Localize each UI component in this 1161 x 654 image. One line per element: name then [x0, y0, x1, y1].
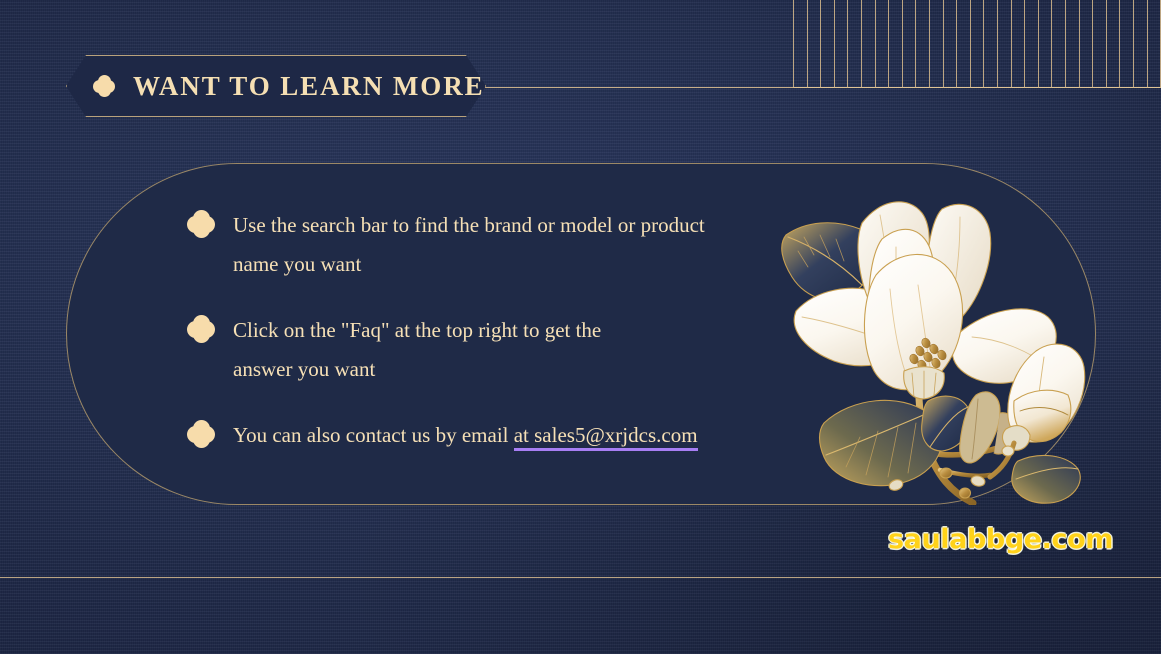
- grid-vertical-line: [1038, 0, 1039, 88]
- section-title-badge: WANT TO LEARN MORE: [66, 55, 486, 117]
- list-item: You can also contact us by email at sale…: [187, 416, 797, 455]
- grid-vertical-line: [1011, 0, 1012, 88]
- grid-vertical-line: [983, 0, 984, 88]
- grid-vertical-line: [943, 0, 944, 88]
- bottom-horizontal-rule: [0, 577, 1161, 578]
- bullet-text-3: You can also contact us by email at sale…: [233, 416, 698, 455]
- bullet-text-2-line1: Click on the "Faq" at the top right to g…: [233, 318, 601, 342]
- grid-vertical-line: [929, 0, 930, 88]
- quatrefoil-icon: [187, 210, 215, 238]
- grid-vertical-line: [902, 0, 903, 88]
- watermark-text: saulabbge.com: [888, 524, 1113, 555]
- grid-vertical-line: [1147, 0, 1148, 88]
- grid-vertical-line: [888, 0, 889, 88]
- page-title: WANT TO LEARN MORE: [133, 71, 485, 102]
- slide-canvas: WANT TO LEARN MORE Use the search bar to…: [0, 0, 1161, 654]
- grid-vertical-line: [1133, 0, 1134, 88]
- grid-vertical-line: [1119, 0, 1120, 88]
- list-item: Click on the "Faq" at the top right to g…: [187, 311, 797, 389]
- grid-vertical-line: [1106, 0, 1107, 88]
- bullet-text-3-prefix: You can also contact us by email: [233, 423, 514, 447]
- grid-vertical-line: [997, 0, 998, 88]
- quatrefoil-icon: [187, 420, 215, 448]
- grid-vertical-line: [861, 0, 862, 88]
- grid-vertical-line: [1079, 0, 1080, 88]
- bullet-list: Use the search bar to find the brand or …: [187, 206, 797, 455]
- grid-vertical-line: [807, 0, 808, 88]
- grid-vertical-line: [1065, 0, 1066, 88]
- grid-vertical-line: [1024, 0, 1025, 88]
- grid-vertical-line: [847, 0, 848, 88]
- bullet-text-1: Use the search bar to find the brand or …: [233, 206, 733, 284]
- grid-vertical-line: [970, 0, 971, 88]
- bullet-text-2-line2: answer you want: [233, 357, 375, 381]
- vertical-line-grid-decoration: [793, 0, 1161, 88]
- content-card: Use the search bar to find the brand or …: [66, 163, 1096, 505]
- email-link[interactable]: at sales5@xrjdcs.com: [514, 423, 698, 451]
- grid-vertical-line: [793, 0, 794, 88]
- quatrefoil-icon: [93, 75, 115, 97]
- grid-vertical-line: [820, 0, 821, 88]
- grid-vertical-line: [956, 0, 957, 88]
- list-item: Use the search bar to find the brand or …: [187, 206, 797, 284]
- grid-vertical-line: [875, 0, 876, 88]
- grid-vertical-line: [834, 0, 835, 88]
- grid-vertical-line: [1051, 0, 1052, 88]
- quatrefoil-icon: [187, 315, 215, 343]
- grid-vertical-line: [1092, 0, 1093, 88]
- grid-vertical-line: [915, 0, 916, 88]
- bullet-text-2: Click on the "Faq" at the top right to g…: [233, 311, 601, 389]
